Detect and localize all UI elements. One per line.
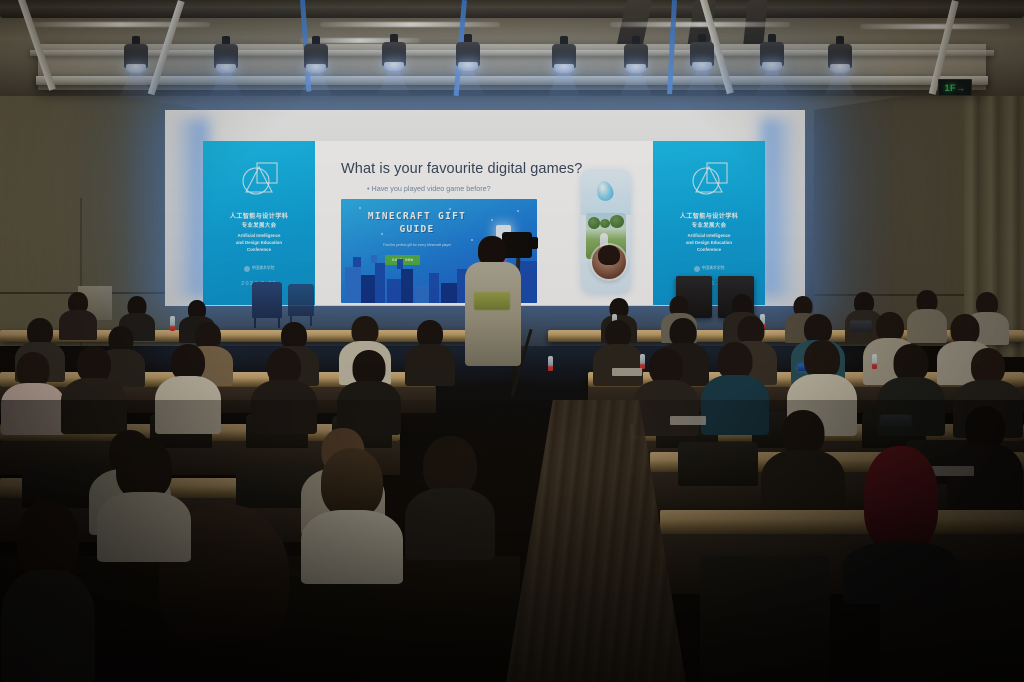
stage-light <box>456 42 480 88</box>
stage-light <box>304 44 328 90</box>
organizer-name: 中国美术学院 <box>252 266 275 271</box>
panel-title-en-line1: Artificial Intelligence <box>236 233 282 240</box>
ceiling-light-strip <box>320 22 500 27</box>
organizer-mark-icon <box>694 266 700 272</box>
promo-headline-line1: MINECRAFT GIFT <box>357 211 477 224</box>
audience-member <box>60 346 128 432</box>
water-drop-icon <box>595 180 615 203</box>
audience-member <box>404 320 456 384</box>
stage-chair <box>252 282 282 318</box>
stage-light <box>552 44 576 90</box>
panel-title-en: Artificial Intelligence and Design Educa… <box>686 233 732 253</box>
panel-title-en-line2: and Design Education <box>686 240 732 247</box>
phone-header <box>581 169 631 215</box>
lecture-hall-photo: 1F→ 人工智能与设计学科 专业发展大会 Artificial Intellig… <box>0 0 1024 682</box>
audience-member-foreground <box>96 438 192 558</box>
video-camera <box>502 232 532 258</box>
ceiling-duct <box>0 8 1024 18</box>
stage-light <box>214 44 238 90</box>
ceiling-light-strip <box>30 22 210 27</box>
audience-member-foreground <box>0 500 96 682</box>
panel-title-en-line1: Artificial Intelligence <box>686 233 732 240</box>
stage-light <box>828 44 852 90</box>
stage-light <box>690 42 714 88</box>
audience-member-foreground <box>404 436 496 556</box>
panel-title-en-line3: Conference <box>686 247 732 254</box>
panel-organizer: 中国美术学院 <box>694 266 725 272</box>
operator-shirt <box>465 262 521 366</box>
panel-subtitle-cn: 专业发展大会 <box>242 221 277 229</box>
stage-light <box>624 44 648 90</box>
stage-chair <box>288 284 314 316</box>
promo-subtext: Find the perfect gift for every Minecraf… <box>365 243 469 247</box>
audience-member <box>250 348 318 432</box>
stage-light <box>382 42 406 88</box>
exit-sign: 1F→ <box>938 79 972 96</box>
promo-headline-line2: GUIDE <box>357 224 477 237</box>
seat-back <box>700 556 830 682</box>
stage-light <box>124 44 148 90</box>
panel-subtitle-cn: 专业发展大会 <box>692 221 727 229</box>
seat-back <box>678 442 758 486</box>
water-bottle <box>548 356 553 371</box>
organizer-name: 中国美术学院 <box>702 266 725 271</box>
audience-member-red-hair <box>842 446 960 596</box>
audience-member <box>760 410 846 516</box>
organizer-mark-icon <box>244 266 250 272</box>
panel-title-en-line2: and Design Education <box>236 240 282 247</box>
audience-member-foreground <box>300 448 404 578</box>
water-bottle <box>170 316 175 331</box>
avatar <box>592 245 626 279</box>
laptop[interactable] <box>879 415 913 428</box>
audience-member <box>0 352 66 432</box>
audience-member <box>336 350 402 432</box>
phone-mockup <box>581 169 631 293</box>
promo-headline: MINECRAFT GIFT GUIDE <box>357 211 477 237</box>
camera-operator <box>462 236 524 396</box>
panel-title-cn: 人工智能与设计学科 <box>680 212 738 221</box>
audience-member <box>154 344 222 432</box>
screen-glow <box>762 118 798 298</box>
shirt-graphic <box>474 292 510 310</box>
panel-title-en-line3: Conference <box>236 247 282 254</box>
paper-handout <box>670 416 706 425</box>
panel-title-cn: 人工智能与设计学科 <box>230 212 288 221</box>
ceiling-light-strip <box>610 22 790 27</box>
conference-logo-icon <box>687 159 731 203</box>
conference-logo-icon <box>237 159 281 203</box>
stage-light <box>760 42 784 88</box>
ceiling-light-strip <box>860 24 1010 29</box>
panel-organizer: 中国美术学院 <box>244 266 275 272</box>
panel-title-en: Artificial Intelligence and Design Educa… <box>236 233 282 253</box>
conference-brand-panel-left: 人工智能与设计学科 专业发展大会 Artificial Intelligence… <box>203 141 315 305</box>
